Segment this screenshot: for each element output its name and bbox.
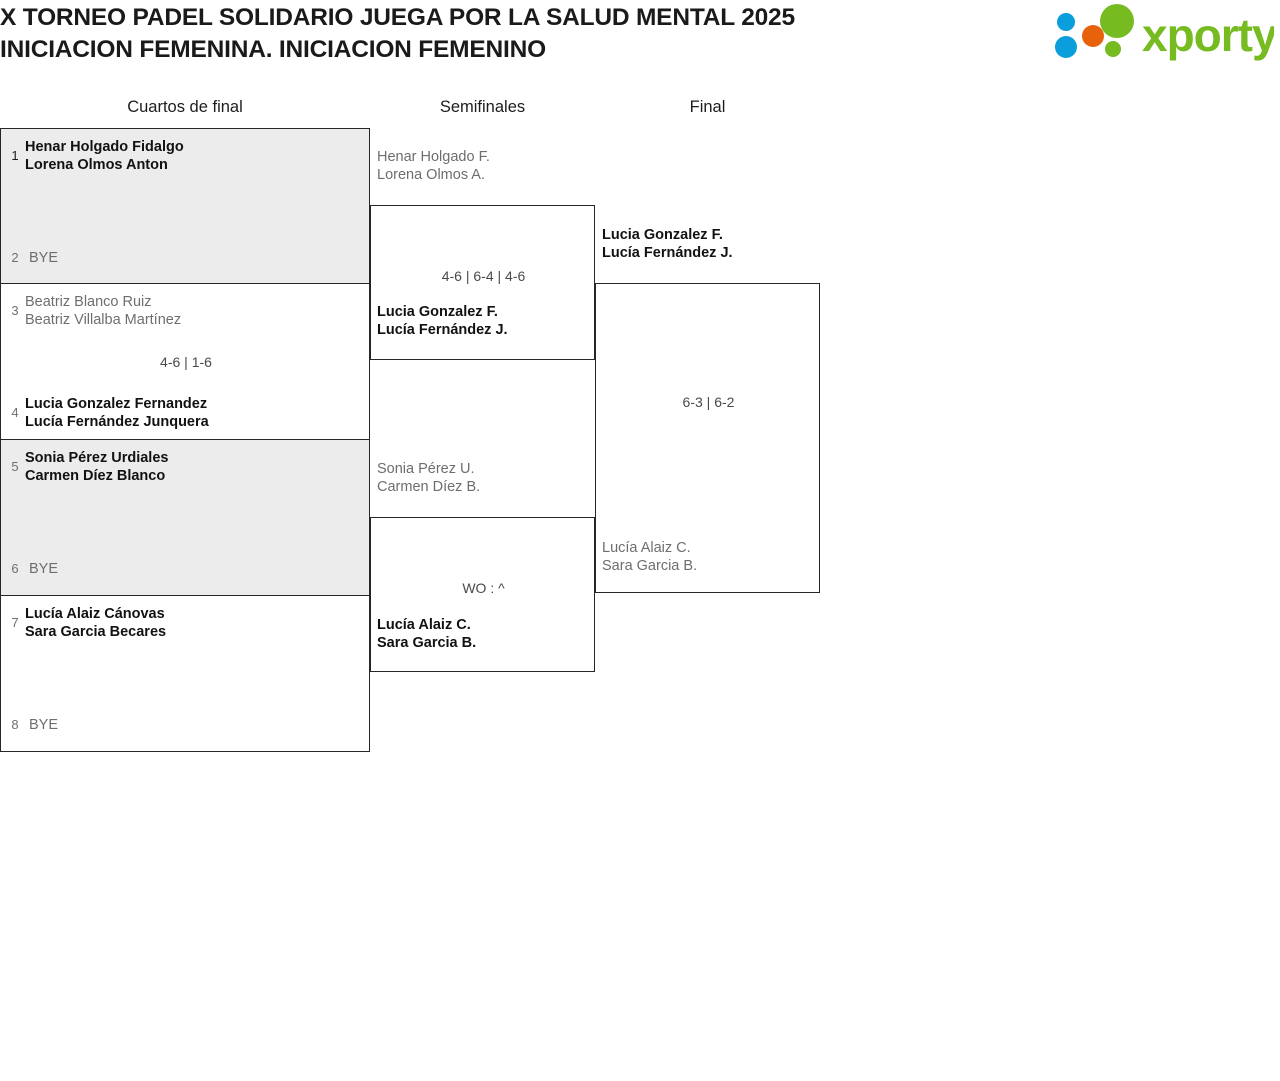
r2-match-1-bottom-team: Lucia Gonzalez F. Lucía Fernández J.: [377, 303, 592, 339]
r1-match-3-bottom[interactable]: 6 BYE: [1, 547, 371, 591]
team-names: Lucia Gonzalez Fernandez Lucía Fernández…: [25, 391, 365, 431]
r1-match-3[interactable]: 5 Sonia Pérez Urdiales Carmen Díez Blanc…: [0, 440, 370, 596]
team-names: Sonia Pérez Urdiales Carmen Díez Blanco: [25, 445, 365, 485]
r2-match-1-top-team: Henar Holgado F. Lorena Olmos A.: [377, 148, 592, 184]
svg-text:xporty: xporty: [1142, 9, 1274, 61]
r1-match-3-top[interactable]: 5 Sonia Pérez Urdiales Carmen Díez Blanc…: [1, 445, 371, 489]
seed-number: 2: [7, 236, 23, 280]
seed-number: 6: [7, 547, 23, 591]
r1-match-2[interactable]: 3 Beatriz Blanco Ruiz Beatriz Villalba M…: [0, 284, 370, 440]
r1-match-4[interactable]: 7 Lucía Alaiz Cánovas Sara Garcia Becare…: [0, 596, 370, 752]
bracket-page: X TORNEO PADEL SOLIDARIO JUEGA POR LA SA…: [0, 0, 1280, 1081]
round-header-semifinals: Semifinales: [370, 95, 595, 119]
r1-match-4-bottom[interactable]: 8 BYE: [1, 703, 371, 747]
r1-match-1[interactable]: 1 Henar Holgado Fidalgo Lorena Olmos Ant…: [0, 128, 370, 284]
r2-match-2-top-team: Sonia Pérez U. Carmen Díez B.: [377, 460, 592, 496]
team-names: Beatriz Blanco Ruiz Beatriz Villalba Mar…: [25, 289, 365, 329]
seed-number: 8: [7, 703, 23, 747]
team-names: Henar Holgado Fidalgo Lorena Olmos Anton: [25, 134, 365, 174]
match-score: 4-6 | 1-6: [1, 354, 371, 370]
seed-number: 7: [7, 601, 23, 645]
r1-match-4-top[interactable]: 7 Lucía Alaiz Cánovas Sara Garcia Becare…: [1, 601, 371, 645]
page-title-line1: X TORNEO PADEL SOLIDARIO JUEGA POR LA SA…: [0, 4, 795, 31]
match-score: WO : ^: [371, 580, 596, 596]
match-score: 4-6 | 6-4 | 4-6: [371, 268, 596, 284]
match-score: 6-3 | 6-2: [596, 394, 821, 410]
seed-number: 4: [7, 391, 23, 435]
round-header-final: Final: [595, 95, 820, 119]
seed-number: 1: [7, 134, 23, 178]
seed-number: 5: [7, 445, 23, 489]
xporty-logo[interactable]: xporty: [1046, 4, 1274, 64]
r1-match-1-top[interactable]: 1 Henar Holgado Fidalgo Lorena Olmos Ant…: [1, 134, 371, 178]
seed-number: 3: [7, 289, 23, 333]
page-title: X TORNEO PADEL SOLIDARIO JUEGA POR LA SA…: [0, 2, 1030, 66]
r1-match-2-bottom[interactable]: 4 Lucia Gonzalez Fernandez Lucía Fernánd…: [1, 391, 371, 435]
r1-match-1-bottom[interactable]: 2 BYE: [1, 236, 371, 280]
bye-label: BYE: [29, 703, 58, 747]
bye-label: BYE: [29, 236, 58, 280]
r2-match-2-bottom-team: Lucía Alaiz C. Sara Garcia B.: [377, 616, 592, 652]
team-names: Lucía Alaiz Cánovas Sara Garcia Becares: [25, 601, 365, 641]
round-header-quarterfinals: Cuartos de final: [0, 95, 370, 119]
xporty-logo-icon: xporty: [1046, 4, 1274, 64]
bye-label: BYE: [29, 547, 58, 591]
page-title-line2: INICIACION FEMENINA. INICIACION FEMENINO: [0, 34, 1030, 66]
final-runnerup-team: Lucía Alaiz C. Sara Garcia B.: [602, 539, 817, 575]
final-champion-team: Lucia Gonzalez F. Lucía Fernández J.: [602, 226, 817, 262]
r1-match-2-top[interactable]: 3 Beatriz Blanco Ruiz Beatriz Villalba M…: [1, 289, 371, 333]
